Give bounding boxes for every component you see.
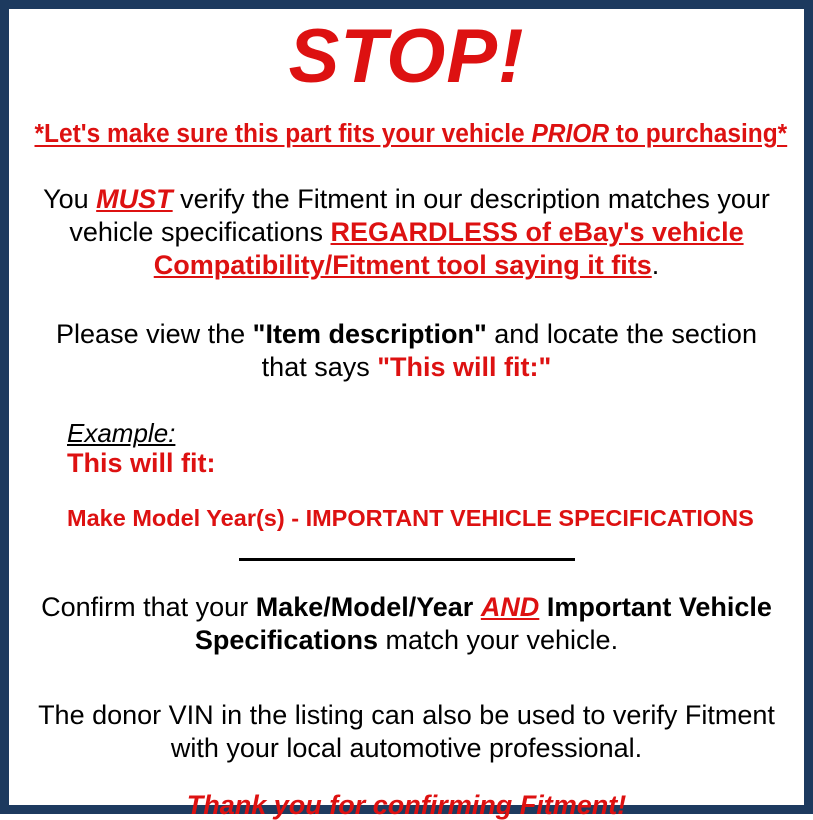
example-spec-line: Make Model Year(s) - IMPORTANT VEHICLE S…	[67, 506, 794, 532]
view-seg-1: Please view the	[56, 319, 253, 349]
view-emphasis-this-will-fit: "This will fit:"	[377, 352, 551, 382]
thanks-message: Thank you for confirming Fitment!	[19, 791, 794, 820]
divider-wrap	[19, 558, 794, 561]
notice-content: STOP! *Let's make sure this part fits yo…	[9, 19, 804, 815]
view-description-paragraph: Please view the "Item description" and l…	[19, 318, 794, 384]
vin-paragraph: The donor VIN in the listing can also be…	[19, 699, 794, 765]
confirm-emphasis-and: AND	[481, 592, 540, 622]
tagline-part-1: *Let's make sure this part fits your veh…	[35, 120, 532, 148]
example-label-row: Example:	[67, 420, 794, 447]
page-title: STOP!	[19, 19, 794, 95]
must-seg-1: You	[43, 184, 96, 214]
confirm-emphasis-make-model-year: Make/Model/Year	[256, 592, 474, 622]
tagline-part-2: to purchasing*	[609, 120, 787, 148]
confirm-seg-1: Confirm that your	[41, 592, 256, 622]
view-emphasis-item-description: "Item description"	[253, 319, 487, 349]
example-block: Example: This will fit: Make Model Year(…	[19, 420, 794, 532]
example-label: Example:	[67, 420, 175, 447]
confirm-paragraph: Confirm that your Make/Model/Year AND Im…	[19, 591, 794, 657]
must-verify-paragraph: You MUST verify the Fitment in our descr…	[19, 183, 794, 282]
must-seg-3: .	[652, 250, 660, 280]
confirm-seg-2: match your vehicle.	[378, 625, 618, 655]
section-divider	[239, 558, 575, 561]
must-emphasis-must: MUST	[96, 184, 173, 214]
tagline: *Let's make sure this part fits your veh…	[35, 120, 779, 149]
fitment-notice-card: STOP! *Let's make sure this part fits yo…	[0, 0, 813, 814]
tagline-emphasis-prior: PRIOR	[531, 120, 609, 148]
example-fit-heading: This will fit:	[67, 449, 794, 479]
